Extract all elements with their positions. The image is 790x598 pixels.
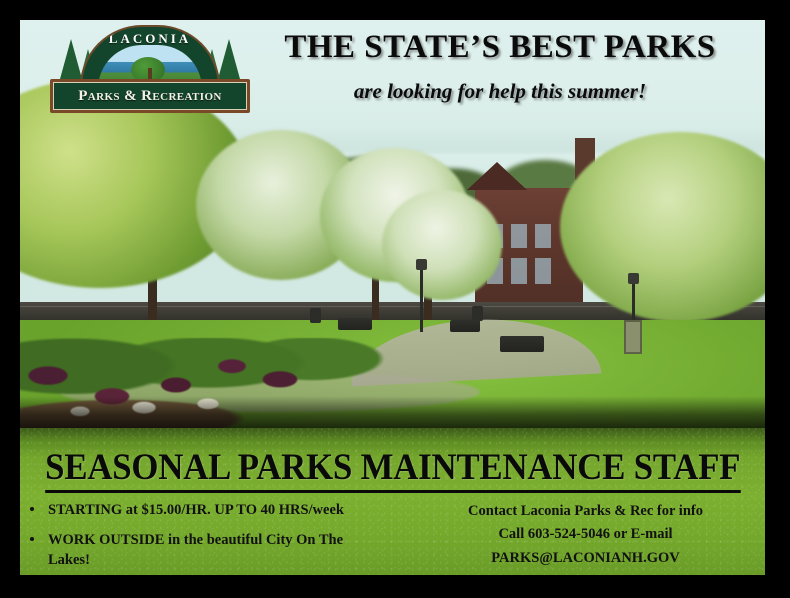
trash-can xyxy=(472,306,483,321)
park-bench xyxy=(338,318,372,330)
headline-block: THE STATE’S BEST PARKS are looking for h… xyxy=(250,30,750,104)
laconia-parks-rec-logo: LACONIA Parks & Recreation xyxy=(50,25,250,125)
trash-can xyxy=(310,308,321,323)
list-item: STARTING at $15.00/HR. UP TO 40 HRS/week xyxy=(26,500,366,521)
bottom-copy: STARTING at $15.00/HR. UP TO 40 HRS/week… xyxy=(20,500,765,575)
contact-phone: Call 603-524-5046 or E-mail xyxy=(420,523,751,546)
job-title-block: SEASONAL PARKS MAINTENANCE STAFF xyxy=(20,446,765,493)
lamp-post xyxy=(420,268,423,332)
logo-city-name: LACONIA xyxy=(82,31,218,47)
contact-block: Contact Laconia Parks & Rec for info Cal… xyxy=(420,500,765,575)
headline-primary: THE STATE’S BEST PARKS xyxy=(250,30,750,65)
tree-canopy xyxy=(382,190,502,300)
pine-tree-icon xyxy=(218,39,240,79)
park-bench xyxy=(500,336,544,352)
logo-ribbon: Parks & Recreation xyxy=(50,79,250,113)
benefits-list: STARTING at $15.00/HR. UP TO 40 HRS/week… xyxy=(20,500,420,575)
building-window xyxy=(535,258,551,284)
contact-email: PARKS@LACONIANH.GOV xyxy=(420,547,751,570)
logo-ribbon-label: Parks & Recreation xyxy=(78,88,222,105)
poster-content-frame: LACONIA Parks & Recreation THE STATE’S B… xyxy=(20,20,765,575)
building-window xyxy=(535,224,551,248)
photo-bottom-vignette xyxy=(20,396,765,430)
logo-arch: LACONIA xyxy=(80,25,220,87)
job-title: SEASONAL PARKS MAINTENANCE STAFF xyxy=(45,446,740,493)
park-sign xyxy=(624,320,642,354)
pine-tree-icon xyxy=(60,39,82,79)
list-item: WORK OUTSIDE in the beautiful City On Th… xyxy=(26,530,366,571)
contact-intro: Contact Laconia Parks & Rec for info xyxy=(420,500,751,523)
headline-secondary: are looking for help this summer! xyxy=(250,79,750,104)
building-window xyxy=(511,224,527,248)
building-window xyxy=(511,258,527,284)
poster-flyer: LACONIA Parks & Recreation THE STATE’S B… xyxy=(0,0,790,598)
park-bench xyxy=(450,320,480,332)
